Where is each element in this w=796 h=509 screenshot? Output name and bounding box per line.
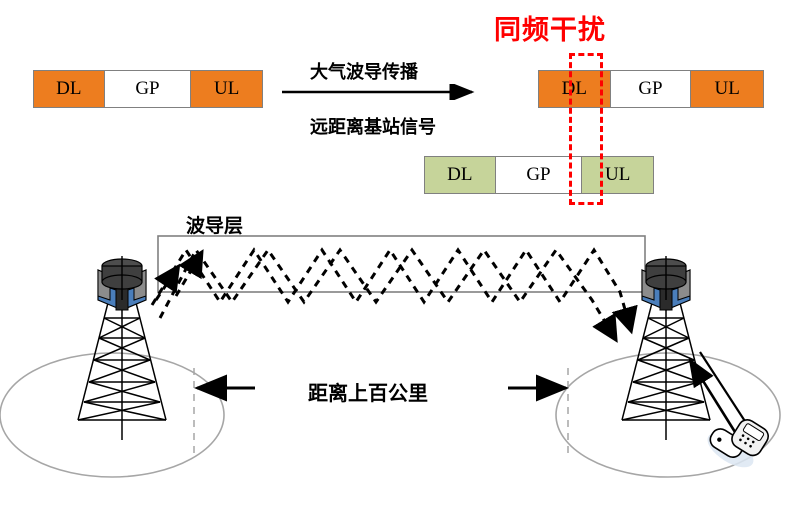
base-station-right — [622, 256, 710, 440]
diagram-canvas: 同频干扰 DL GP UL DL GP UL DL GP UL 大气波导传播 远… — [0, 0, 796, 509]
zigzag-ray-path-b — [160, 250, 610, 330]
coverage-ellipse-left — [0, 353, 224, 477]
duct-layer-label: 波导层 — [186, 211, 243, 238]
base-station-left — [78, 256, 166, 440]
tower-lattice-left — [78, 295, 166, 440]
distance-label: 距离上百公里 — [308, 377, 428, 406]
mobile-phone-icon — [702, 406, 772, 474]
propagation-scene — [0, 0, 796, 509]
zigzag-ray-path-a — [152, 250, 628, 320]
tower-lattice-right — [622, 295, 710, 440]
